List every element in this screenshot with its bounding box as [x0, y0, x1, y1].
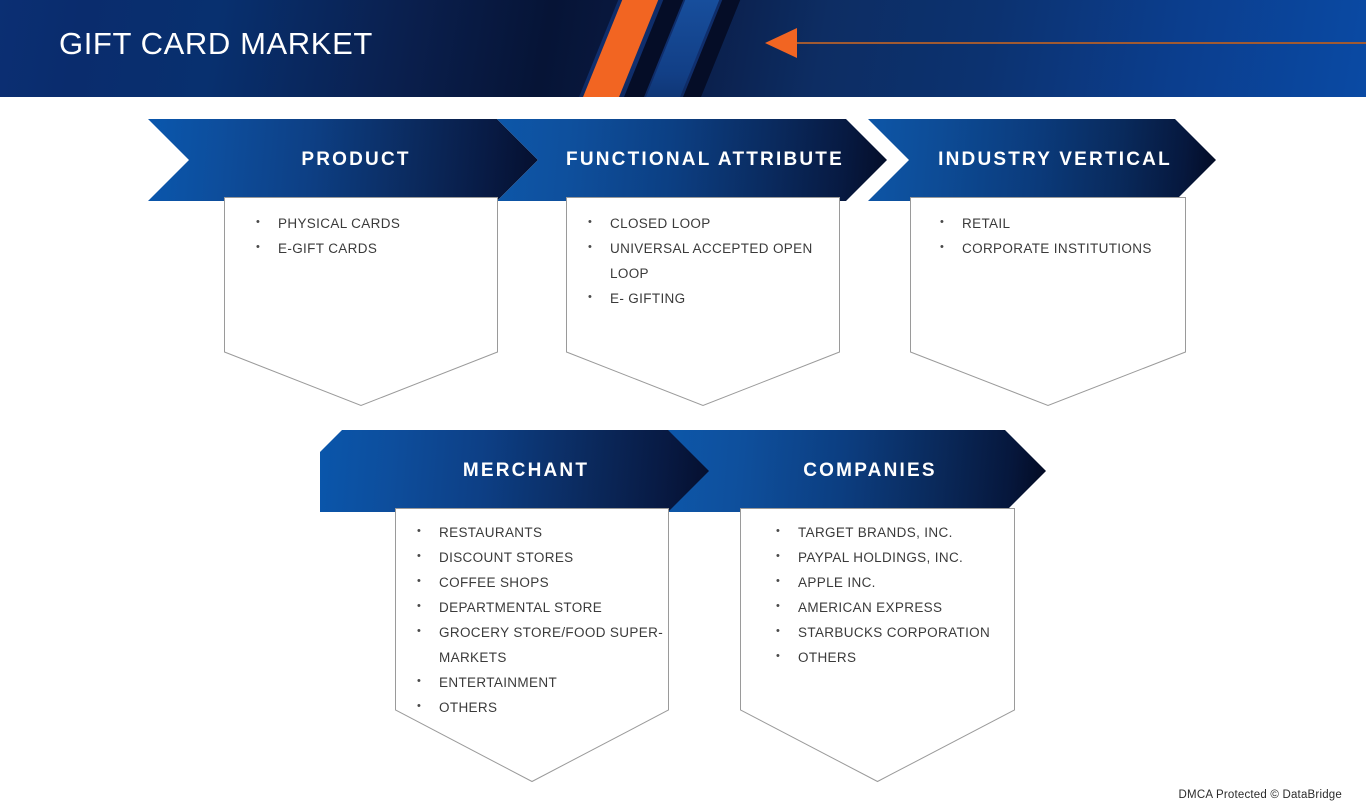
list-item: E-GIFT CARDS	[250, 236, 498, 261]
list-item: ENTERTAINMENT	[411, 670, 669, 695]
segment-item-list: RESTAURANTS DISCOUNT STORES COFFEE SHOPS…	[395, 508, 669, 720]
segment-card-functional-attribute: CLOSED LOOP UNIVERSAL ACCEPTED OPEN LOOP…	[566, 197, 840, 407]
list-item: APPLE INC.	[770, 570, 1015, 595]
segment-card-product: PHYSICAL CARDS E-GIFT CARDS	[224, 197, 498, 407]
list-item: AMERICAN EXPRESS	[770, 595, 1015, 620]
list-item: PHYSICAL CARDS	[250, 211, 498, 236]
list-item: CORPORATE INSTITUTIONS	[934, 236, 1186, 261]
segment-card-merchant: RESTAURANTS DISCOUNT STORES COFFEE SHOPS…	[395, 508, 669, 783]
list-item: OTHERS	[411, 695, 669, 720]
list-item: RETAIL	[934, 211, 1186, 236]
list-item: OTHERS	[770, 645, 1015, 670]
list-item-wrap: MARKETS	[411, 645, 669, 670]
segment-banner-product: PRODUCT	[148, 119, 538, 201]
segment-banner-industry-vertical: INDUSTRY VERTICAL	[868, 119, 1216, 201]
header-arrow-line	[795, 42, 1366, 44]
segment-title: PRODUCT	[301, 149, 410, 171]
list-item: COFFEE SHOPS	[411, 570, 669, 595]
segment-card-companies: TARGET BRANDS, INC. PAYPAL HOLDINGS, INC…	[740, 508, 1015, 783]
list-item: CLOSED LOOP	[582, 211, 840, 236]
header-band: GIFT CARD MARKET	[0, 0, 1366, 97]
list-item: DISCOUNT STORES	[411, 545, 669, 570]
list-item-wrap: LOOP	[582, 261, 840, 286]
left-arrow-icon	[765, 28, 797, 58]
segment-title: FUNCTIONAL ATTRIBUTE	[566, 149, 844, 171]
segment-item-list: RETAIL CORPORATE INSTITUTIONS	[910, 197, 1186, 261]
list-item: TARGET BRANDS, INC.	[770, 520, 1015, 545]
segment-item-list: TARGET BRANDS, INC. PAYPAL HOLDINGS, INC…	[740, 508, 1015, 670]
segment-title: COMPANIES	[803, 460, 936, 482]
segment-banner-merchant: MERCHANT	[320, 430, 710, 512]
list-item: DEPARTMENTAL STORE	[411, 595, 669, 620]
list-item: UNIVERSAL ACCEPTED OPEN	[582, 236, 840, 261]
list-item: RESTAURANTS	[411, 520, 669, 545]
segment-item-list: PHYSICAL CARDS E-GIFT CARDS	[224, 197, 498, 261]
list-item: STARBUCKS CORPORATION	[770, 620, 1015, 645]
segment-title: INDUSTRY VERTICAL	[938, 149, 1172, 171]
segment-card-industry-vertical: RETAIL CORPORATE INSTITUTIONS	[910, 197, 1186, 407]
segment-item-list: CLOSED LOOP UNIVERSAL ACCEPTED OPEN LOOP…	[566, 197, 840, 311]
footer-credit: DMCA Protected © DataBridge	[1179, 789, 1342, 801]
page-title: GIFT CARD MARKET	[59, 26, 373, 62]
list-item: PAYPAL HOLDINGS, INC.	[770, 545, 1015, 570]
segment-title: MERCHANT	[463, 460, 589, 482]
list-item: E- GIFTING	[582, 286, 840, 311]
segment-banner-companies: COMPANIES	[668, 430, 1046, 512]
list-item: GROCERY STORE/FOOD SUPER-	[411, 620, 669, 645]
segment-banner-functional-attribute: FUNCTIONAL ATTRIBUTE	[497, 119, 887, 201]
